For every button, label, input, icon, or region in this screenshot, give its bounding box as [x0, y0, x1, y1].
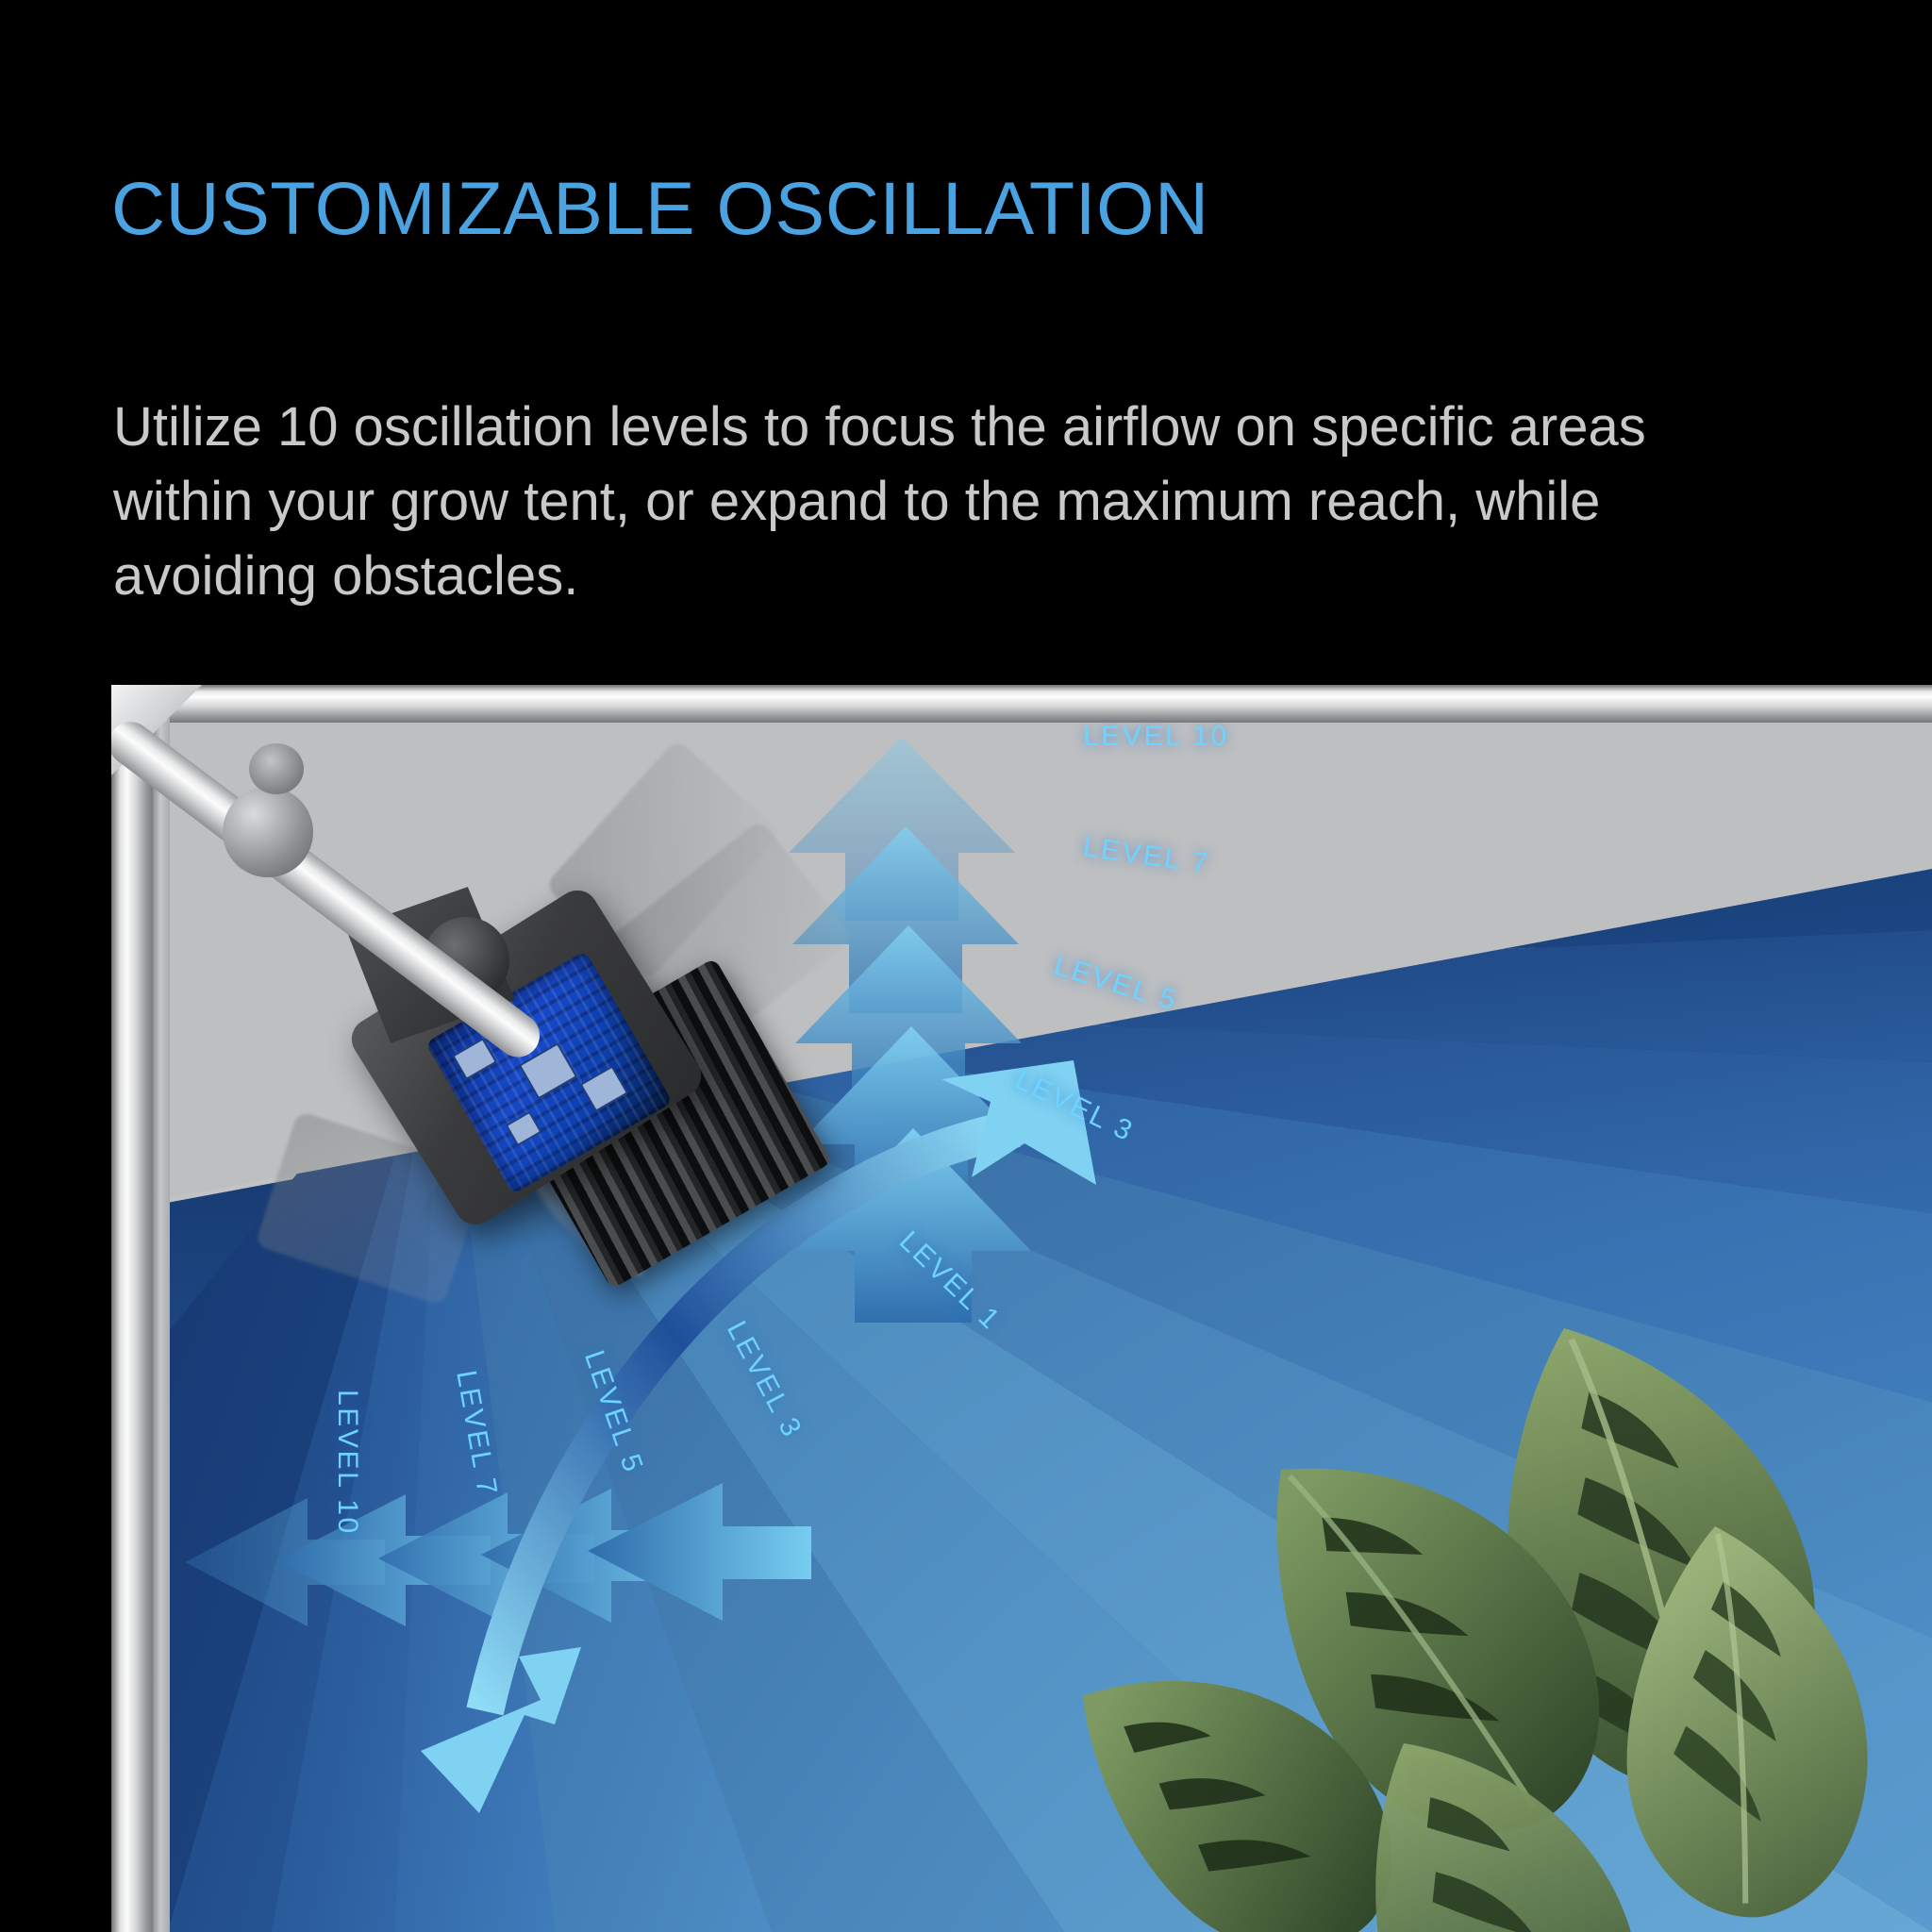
tent-frame-left-bar [111, 685, 153, 1932]
pole-joint-knob [223, 787, 313, 877]
level-label-bottom-10: LEVEL 10 [331, 1390, 363, 1536]
tent-scene: LEVEL 10 LEVEL 7 LEVEL 5 LEVEL 3 LEVEL 1… [111, 685, 1932, 1932]
tent-frame-left-inner [153, 719, 170, 1932]
page-title: CUSTOMIZABLE OSCILLATION [111, 171, 1209, 245]
product-feature-graphic: CUSTOMIZABLE OSCILLATION Utilize 10 osci… [0, 0, 1932, 1932]
pole-joint-ring [249, 743, 304, 794]
body-copy: Utilize 10 oscillation levels to focus t… [113, 390, 1774, 613]
tent-frame-top-bar [111, 685, 1932, 723]
monstera-plant [998, 1291, 1932, 1932]
level-label-right-10: LEVEL 10 [1083, 721, 1229, 753]
